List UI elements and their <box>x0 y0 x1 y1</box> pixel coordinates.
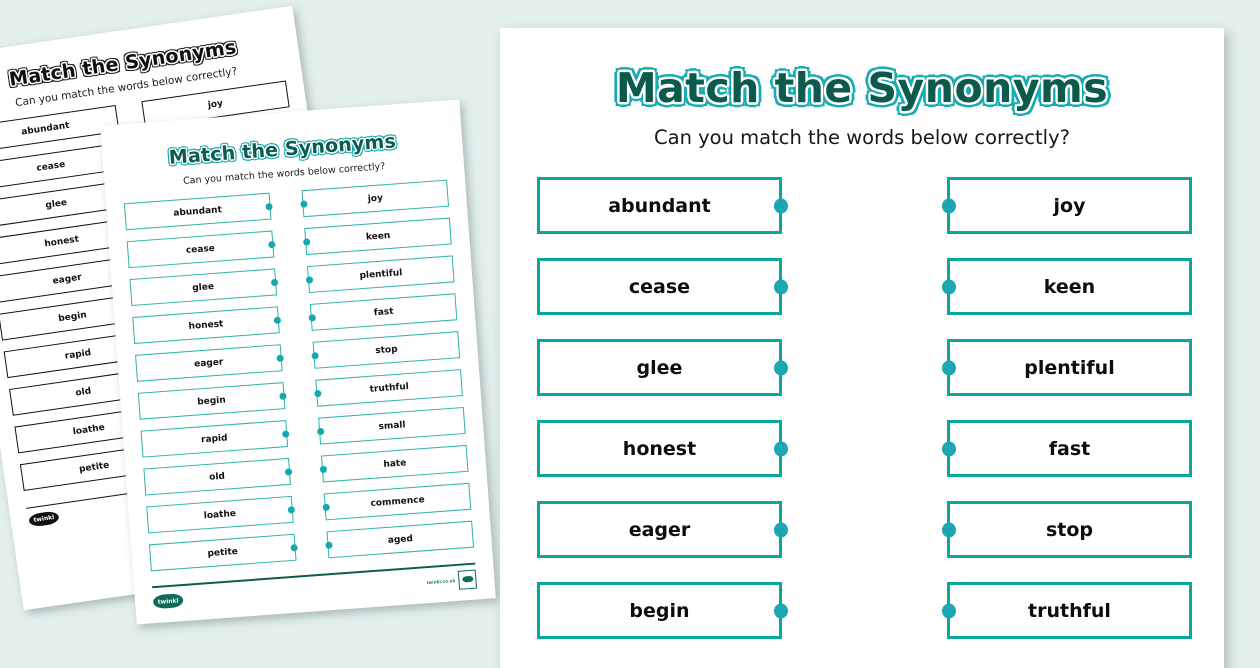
word-box[interactable]: stop <box>947 501 1192 558</box>
main-worksheet-sheet[interactable]: Match the Synonyms Can you match the wor… <box>500 28 1224 668</box>
word-box[interactable]: rapid <box>141 420 288 458</box>
word-box[interactable]: glee <box>129 268 276 306</box>
word-label: abundant <box>173 205 222 219</box>
connector-dot-icon[interactable] <box>277 354 284 361</box>
middle-sheet-columns: abundant cease glee honest eager begin r… <box>105 166 493 583</box>
word-box[interactable]: fast <box>947 420 1192 477</box>
word-label: honest <box>188 319 223 332</box>
connector-dot-icon[interactable] <box>774 360 788 375</box>
word-box[interactable]: cease <box>127 231 274 269</box>
page-subtitle: Can you match the words below correctly? <box>500 126 1224 149</box>
word-label: joy <box>367 193 383 204</box>
word-label: begin <box>629 600 689 622</box>
connector-dot-icon[interactable] <box>317 427 324 434</box>
word-label: hate <box>383 458 407 470</box>
page-title: Match the Synonyms <box>500 64 1224 112</box>
word-box[interactable]: honest <box>132 306 279 344</box>
word-label: truthful <box>369 381 409 394</box>
connector-dot-icon[interactable] <box>279 392 286 399</box>
connector-dot-icon[interactable] <box>266 202 273 209</box>
word-box[interactable]: abundant <box>124 193 271 231</box>
word-label: glee <box>637 357 683 379</box>
connector-dot-icon[interactable] <box>319 465 326 472</box>
badge-blob-icon <box>462 576 473 583</box>
word-label: glee <box>192 281 214 293</box>
word-label: plentiful <box>359 268 402 281</box>
connector-dot-icon[interactable] <box>322 503 329 510</box>
word-box[interactable]: eager <box>537 501 782 558</box>
connector-dot-icon[interactable] <box>942 603 956 618</box>
word-box[interactable]: joy <box>947 177 1192 234</box>
connector-dot-icon[interactable] <box>288 506 295 513</box>
connector-dot-icon[interactable] <box>303 238 310 245</box>
word-box[interactable]: honest <box>537 420 782 477</box>
word-label: keen <box>1044 276 1095 298</box>
word-label: stop <box>1046 519 1093 541</box>
word-box[interactable]: keen <box>304 217 451 255</box>
word-label: small <box>378 420 406 432</box>
word-label: truthful <box>1028 600 1111 622</box>
word-label: loathe <box>72 422 105 436</box>
connector-dot-icon[interactable] <box>942 522 956 537</box>
word-box[interactable]: joy <box>302 180 449 218</box>
main-sheet-left-column: abundant cease glee honest eager begin <box>537 177 782 663</box>
connector-dot-icon[interactable] <box>282 430 289 437</box>
connector-dot-icon[interactable] <box>942 198 956 213</box>
word-box[interactable]: commence <box>324 483 471 521</box>
word-box[interactable]: truthful <box>947 582 1192 639</box>
connector-dot-icon[interactable] <box>305 276 312 283</box>
word-label: old <box>209 471 225 482</box>
word-label: cease <box>629 276 690 298</box>
word-label: fast <box>374 306 394 317</box>
connector-dot-icon[interactable] <box>300 200 307 207</box>
word-label: old <box>75 386 92 398</box>
main-sheet-right-column: joy keen plentiful fast stop truthful <box>947 177 1192 663</box>
word-label: abundant <box>608 195 711 217</box>
word-box[interactable]: old <box>143 458 290 496</box>
word-box[interactable]: plentiful <box>307 255 454 293</box>
word-label: petite <box>78 460 109 474</box>
connector-dot-icon[interactable] <box>774 198 788 213</box>
word-label: commence <box>370 495 425 509</box>
word-label: honest <box>623 438 696 460</box>
word-label: rapid <box>64 348 92 362</box>
connector-dot-icon[interactable] <box>774 522 788 537</box>
word-box[interactable]: begin <box>138 382 285 420</box>
word-box[interactable]: stop <box>313 331 460 369</box>
website-url[interactable]: twinkl.co.uk <box>427 578 456 585</box>
word-box[interactable]: hate <box>321 445 468 483</box>
word-label: eager <box>52 272 82 286</box>
connector-dot-icon[interactable] <box>942 279 956 294</box>
word-box[interactable]: fast <box>310 293 457 331</box>
connector-dot-icon[interactable] <box>942 441 956 456</box>
word-box[interactable]: keen <box>947 258 1192 315</box>
connector-dot-icon[interactable] <box>285 468 292 475</box>
middle-sheet-right-column: joy keen plentiful fast stop truthful sm… <box>302 180 475 570</box>
middle-worksheet-sheet[interactable]: Match the Synonyms Can you match the wor… <box>100 99 496 624</box>
word-label: begin <box>197 395 226 407</box>
word-label: cease <box>36 159 66 173</box>
word-box[interactable]: petite <box>149 534 296 572</box>
connector-dot-icon[interactable] <box>308 314 315 321</box>
word-box[interactable]: begin <box>537 582 782 639</box>
word-box[interactable]: small <box>318 407 465 445</box>
word-label: glee <box>45 197 68 210</box>
word-box[interactable]: plentiful <box>947 339 1192 396</box>
word-box[interactable]: loathe <box>146 496 293 534</box>
word-label: joy <box>1054 195 1086 217</box>
word-label: honest <box>44 234 80 249</box>
word-label: stop <box>375 344 398 356</box>
connector-dot-icon[interactable] <box>271 278 278 285</box>
word-label: begin <box>58 310 88 324</box>
main-sheet-columns: abundant cease glee honest eager begin j… <box>500 149 1224 663</box>
middle-sheet-left-column: abundant cease glee honest eager begin r… <box>124 193 297 583</box>
word-box[interactable]: truthful <box>316 369 463 407</box>
connector-dot-icon[interactable] <box>325 541 332 548</box>
connector-dot-icon[interactable] <box>774 441 788 456</box>
word-box[interactable]: abundant <box>537 177 782 234</box>
word-label: rapid <box>201 433 228 445</box>
word-box[interactable]: eager <box>135 344 282 382</box>
twinkl-badge-icon <box>458 569 477 589</box>
word-box[interactable]: glee <box>537 339 782 396</box>
connector-dot-icon[interactable] <box>311 352 318 359</box>
word-box[interactable]: cease <box>537 258 782 315</box>
word-label: keen <box>366 230 391 242</box>
twinkl-logo: twinkl <box>28 511 60 528</box>
connector-dot-icon[interactable] <box>291 544 298 551</box>
word-label: joy <box>207 98 223 110</box>
connector-dot-icon[interactable] <box>274 316 281 323</box>
footer-right: twinkl.co.uk <box>426 569 477 592</box>
connector-dot-icon[interactable] <box>774 279 788 294</box>
word-box[interactable]: aged <box>327 521 474 559</box>
worksheet-stage: Match the Synonyms Can you match the wor… <box>0 0 1260 630</box>
word-label: eager <box>629 519 691 541</box>
connector-dot-icon[interactable] <box>268 240 275 247</box>
word-label: plentiful <box>1024 357 1114 379</box>
connector-dot-icon[interactable] <box>942 360 956 375</box>
word-label: cease <box>186 243 216 255</box>
word-label: abundant <box>21 120 70 137</box>
word-label: aged <box>388 534 414 546</box>
word-label: petite <box>207 546 238 558</box>
connector-dot-icon[interactable] <box>314 389 321 396</box>
word-label: fast <box>1049 438 1090 460</box>
connector-dot-icon[interactable] <box>774 603 788 618</box>
word-label: loathe <box>203 508 236 520</box>
word-label: eager <box>194 357 224 369</box>
twinkl-logo[interactable]: twinkl <box>153 593 184 609</box>
